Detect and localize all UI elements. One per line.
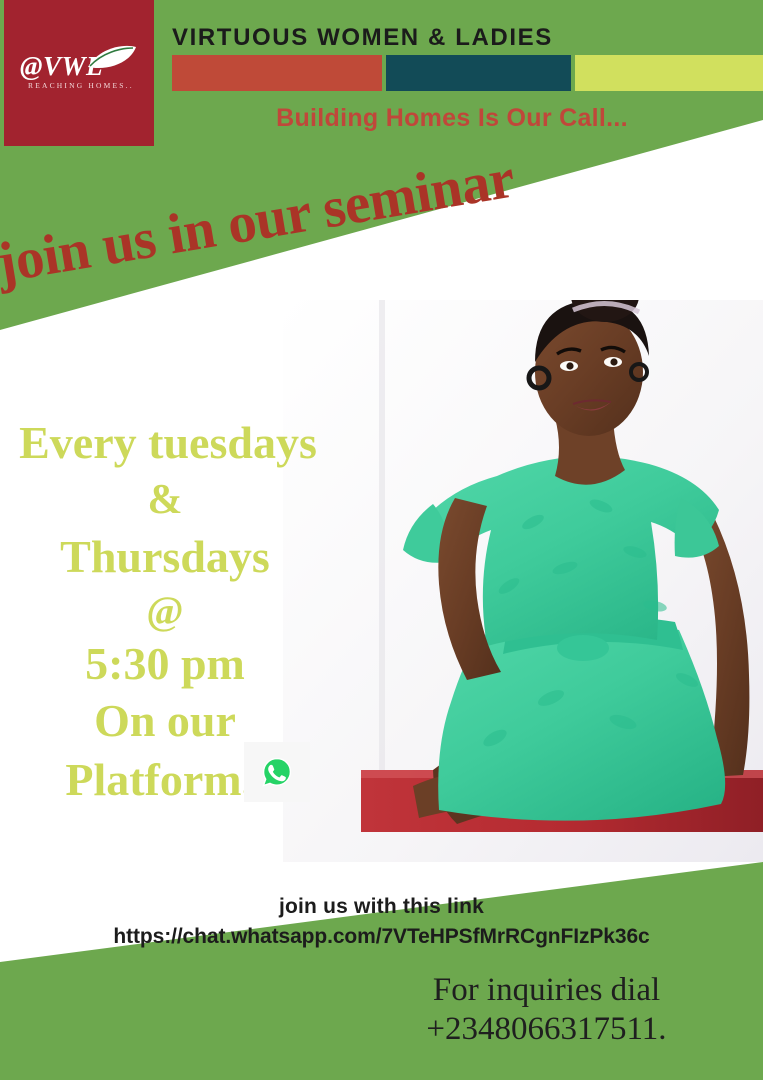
brand-tagline: Building Homes Is Our Call... — [172, 104, 732, 133]
color-bar-yellowgreen — [575, 55, 763, 91]
schedule-line-2: & — [0, 479, 330, 522]
brand-logo: @VWL REACHING HOMES.. — [4, 0, 154, 146]
schedule-line-5: 5:30 pm — [0, 641, 330, 688]
color-bar-red — [172, 55, 382, 91]
inquiry-label: For inquiries dial — [330, 972, 763, 1009]
join-link-block: join us with this link https://chat.what… — [0, 895, 763, 949]
flyer-poster: @VWL REACHING HOMES.. VIRTUOUS WOMEN & L… — [0, 0, 763, 1080]
whatsapp-icon[interactable] — [244, 742, 310, 802]
join-link-label: join us with this link — [0, 895, 763, 919]
color-bar-strip — [172, 55, 763, 91]
schedule-line-1: Every tuesdays — [6, 420, 330, 467]
leaf-icon — [86, 45, 138, 71]
inquiry-phone[interactable]: +2348066317511. — [330, 1011, 763, 1048]
logo-subtitle: REACHING HOMES.. — [28, 81, 134, 90]
join-link-url[interactable]: https://chat.whatsapp.com/7VTeHPSfMrRCgn… — [0, 925, 763, 949]
schedule-line-3: Thursdays — [0, 534, 330, 581]
schedule-line-4: @ — [0, 591, 330, 632]
woman-photo — [283, 300, 763, 862]
page-title: VIRTUOUS WOMEN & LADIES — [172, 24, 752, 52]
schedule-line-6: On our — [0, 698, 330, 745]
inquiry-block: For inquiries dial +2348066317511. — [330, 972, 763, 1048]
color-bar-teal — [386, 55, 571, 91]
